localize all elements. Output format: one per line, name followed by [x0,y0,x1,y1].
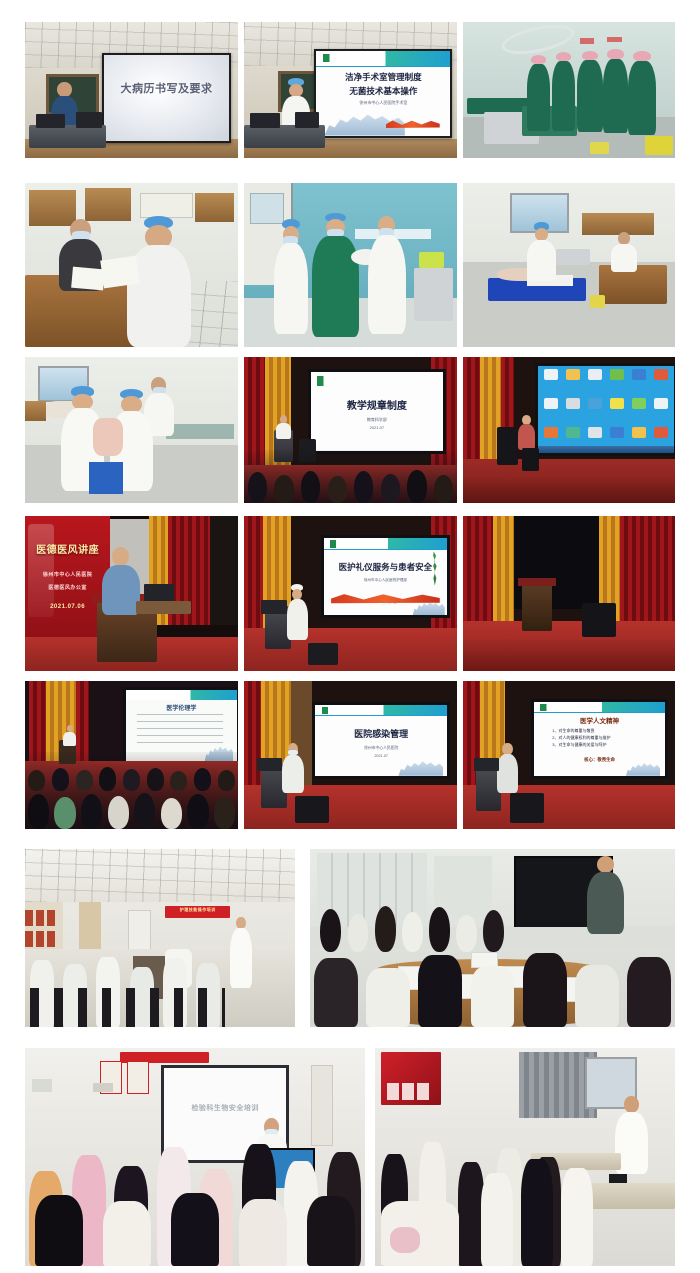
photo-10-scene: 医德医风讲座 徐州市中心人民医院 医德医风办公室 2021.07.06 [25,516,238,671]
photo-12-scene [463,516,675,671]
photo-tile[interactable] [463,357,675,503]
desktop-icon [544,398,559,408]
photo-tile[interactable]: 医院感染管理 徐州市中心人民医院 2021.07 [244,681,457,829]
photo-2-scene: 洁净手术室管理制度 无菌技术基本操作 徐州市中心人民医院手术室 [244,22,457,158]
slide-footer: 核心：敬畏生命 [534,757,665,763]
taskbar [538,446,674,454]
desktop-icon [588,427,603,437]
photo-tile[interactable] [463,22,675,158]
photo-3-scene [463,22,675,158]
photo-14-scene: 医院感染管理 徐州市中心人民医院 2021.07 [244,681,457,829]
slide-surface: 医学人文精神 1、对生命的尊重与敬畏 2、对人的健康权利的尊重与维护 3、对生命… [534,702,665,776]
slide-subtitle: 徐州市中心人民医院 [315,746,447,751]
hall-banner-text: 护理技能操作培训 [165,907,230,912]
photo-6-scene [463,183,675,347]
slide-title: 教学规章制度 [311,397,443,412]
photo-tile[interactable]: 大病历书写及要求 [25,22,238,158]
desktop-icon [654,427,669,437]
desktop-icon [544,369,559,379]
desktop-icon [610,369,625,379]
slide-subtitle: 徐州市中心人民医院手术室 [316,100,450,106]
photo-tile[interactable] [463,183,675,347]
photo-4-scene [25,183,238,347]
desktop-icon [544,427,559,437]
photo-tile[interactable]: 医学伦理学 [25,681,238,829]
slide-title: 医护礼仪服务与患者安全 [324,561,448,573]
projected-desktop [535,363,675,457]
photo-tile[interactable]: 医德医风讲座 徐州市中心人民医院 医德医风办公室 2021.07.06 [25,516,238,671]
slide-date: 2021.07 [315,754,447,758]
photo-7-scene [25,357,238,503]
desktop-icon [610,398,625,408]
photo-16-scene: 护理技能操作培训 [25,849,295,1027]
photo-tile[interactable] [25,357,238,503]
desktop-icon [654,398,669,408]
slide-title: 医院感染管理 [315,727,447,740]
slide-bullet: 3、对生命与健康的关爱与呵护 [552,741,657,748]
slide-subtitle: 教育科学部 [311,417,443,423]
slide-bullets: 1、对生命的尊重与敬畏 2、对人的健康权利的尊重与维护 3、对生命与健康的关爱与… [552,727,657,748]
photo-9-scene [463,357,675,503]
slide-bullet: 2、对人的健康权利的尊重与维护 [552,734,657,741]
desktop-icon [610,427,625,437]
photo-tile[interactable] [25,183,238,347]
photo-19-scene [375,1048,675,1266]
desktop-icon [632,427,647,437]
slide-title: 医学人文精神 [534,715,665,725]
photo-13-scene: 医学伦理学 [25,681,238,829]
photo-11-scene: 医护礼仪服务与患者安全 徐州市中心人民医院护理部 2021年7月7日 [244,516,457,671]
photo-15-scene: 医学人文精神 1、对生命的尊重与敬畏 2、对人的健康权利的尊重与维护 3、对生命… [463,681,675,829]
slide-text: 大病历书写及要求 [104,83,230,97]
photo-tile[interactable]: 洁净手术室管理制度 无菌技术基本操作 徐州市中心人民医院手术室 [244,22,457,158]
slide-surface: 医院感染管理 徐州市中心人民医院 2021.07 [315,705,447,776]
photo-8-scene: 教学规章制度 教育科学部 2021.07 [244,357,457,503]
hall-banner: 护理技能操作培训 [165,906,230,918]
desktop-icon [632,398,647,408]
photo-tile[interactable]: 教学规章制度 教育科学部 2021.07 [244,357,457,503]
desktop-icon [566,427,581,437]
slide-surface: 洁净手术室管理制度 无菌技术基本操作 徐州市中心人民医院手术室 [316,51,450,135]
slide-surface: 医学伦理学 [126,690,237,761]
photo-tile[interactable]: 医学人文精神 1、对生命的尊重与敬畏 2、对人的健康权利的尊重与维护 3、对生命… [463,681,675,829]
slide-surface: 医护礼仪服务与患者安全 徐州市中心人民医院护理部 2021年7月7日 [324,538,448,616]
photo-18-scene: 检验科生物安全培训 [25,1048,365,1266]
desktop-icon [588,369,603,379]
photo-tile[interactable]: 检验科生物安全培训 [25,1048,365,1266]
photo-tile[interactable]: 护理技能操作培训 [25,849,295,1027]
slide-title: 医学伦理学 [126,703,237,712]
banner-title: 医德医风讲座 [25,545,110,558]
photo-tile[interactable] [310,849,675,1027]
photo-5-scene [244,183,457,347]
photo-tile[interactable] [375,1048,675,1266]
photo-tile[interactable] [244,183,457,347]
photo-1-scene: 大病历书写及要求 [25,22,238,158]
desktop-icon [632,369,647,379]
desktop-icon [566,398,581,408]
slide-text: 检验科生物安全培训 [164,1105,286,1114]
slide-date: 2021.07 [311,425,443,430]
slide-surface: 教学规章制度 教育科学部 2021.07 [311,372,443,451]
photo-gallery: 大病历书写及要求 洁净手术室管理制度 无菌技术基本操作 [0,0,700,1273]
photo-tile[interactable]: 医护礼仪服务与患者安全 徐州市中心人民医院护理部 2021年7月7日 [244,516,457,671]
slide-title-line-2: 无菌技术基本操作 [316,85,450,97]
photo-tile[interactable] [463,516,675,671]
banner-line-1: 徐州市中心人民医院 [25,572,110,578]
desktop-icon [654,369,669,379]
slide-bullet: 1、对生命的尊重与敬畏 [552,727,657,734]
slide-subtitle: 徐州市中心人民医院护理部 [324,578,448,583]
photo-17-scene [310,849,675,1027]
desktop-icon [566,369,581,379]
desktop-icon [588,398,603,408]
banner-line-2: 医德医风办公室 [25,585,110,591]
slide-title-line-1: 洁净手术室管理制度 [316,71,450,83]
